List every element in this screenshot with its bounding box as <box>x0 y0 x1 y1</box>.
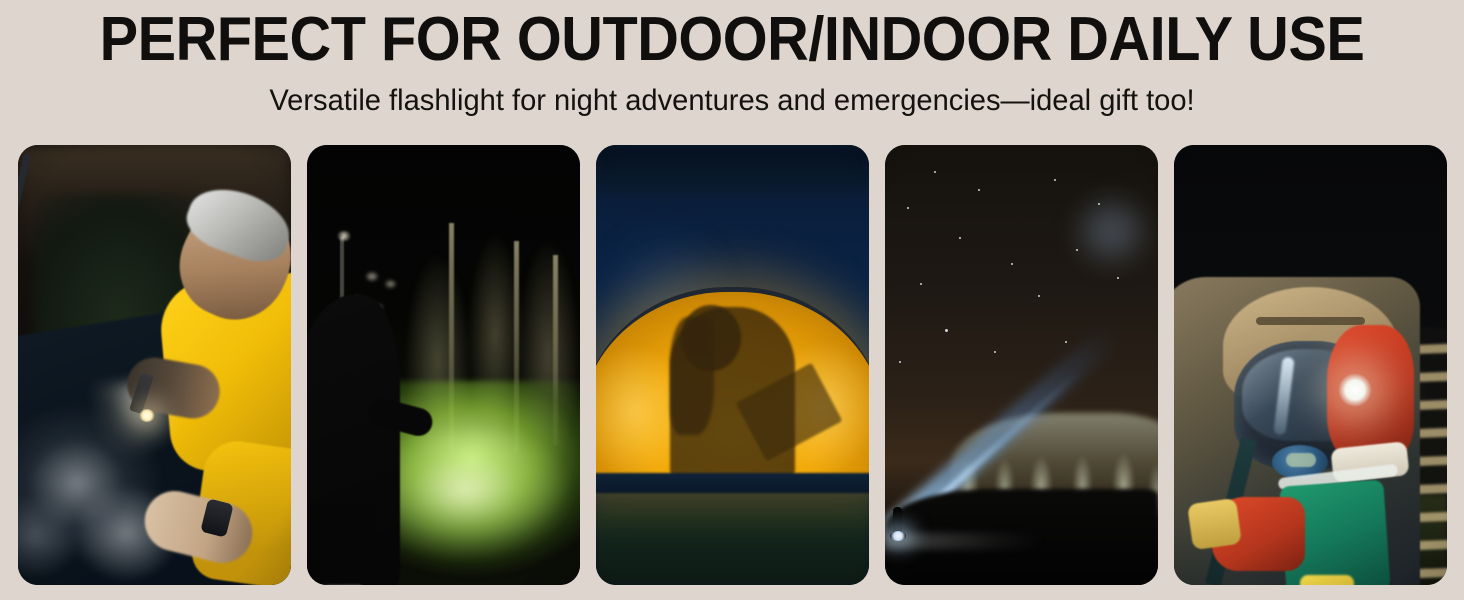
page-title: PERFECT FOR OUTDOOR/INDOOR DAILY USE <box>51 9 1413 71</box>
gallery-image-sky-beam <box>885 145 1158 585</box>
gallery-image-camping-tent <box>596 145 869 585</box>
vignette <box>885 145 1158 585</box>
vignette <box>596 145 869 585</box>
gallery-image-night-walk <box>307 145 580 585</box>
photo-gallery <box>18 145 1447 585</box>
vignette <box>18 145 291 585</box>
page-subtitle: Versatile flashlight for night adventure… <box>22 86 1442 116</box>
gallery-image-rescue-worker <box>1174 145 1447 585</box>
gallery-image-car-repair <box>18 145 291 585</box>
promo-banner: PERFECT FOR OUTDOOR/INDOOR DAILY USE Ver… <box>0 0 1464 600</box>
vignette <box>307 145 580 585</box>
vignette <box>1174 145 1447 585</box>
